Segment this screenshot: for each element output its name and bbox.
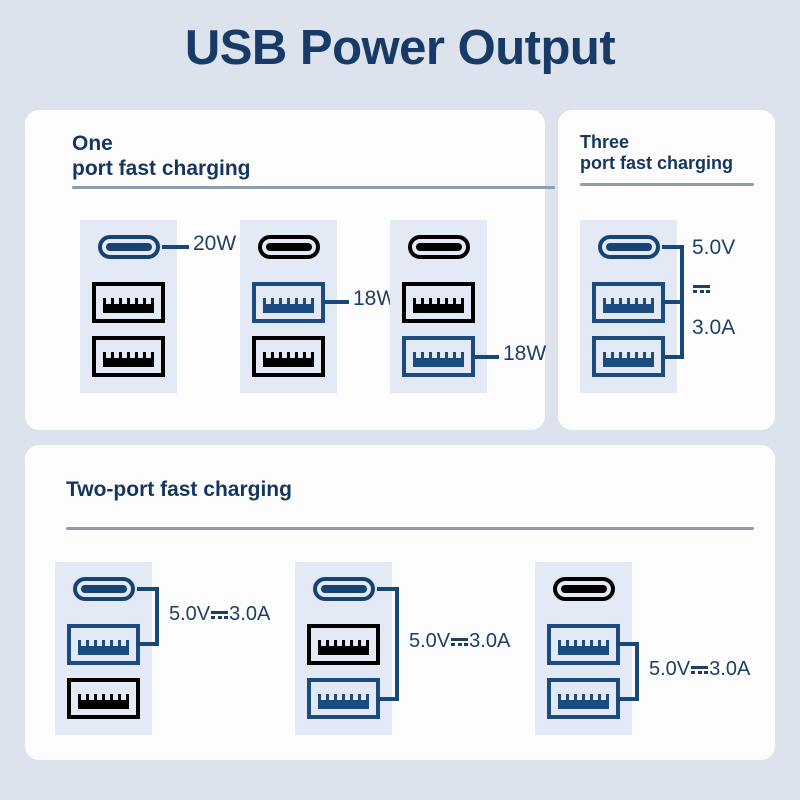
power-label-20w: 20W [193, 232, 236, 256]
card-two-port-fast-charging: Two-port fast charging 5.0V3.0A 5.0V3.0A [25, 445, 775, 760]
usb-a-core [558, 646, 609, 655]
current-label: 3.0A [709, 658, 750, 680]
usb-c-port-active[interactable] [98, 235, 160, 259]
usb-a-port-active[interactable] [252, 282, 325, 323]
usb-c-inner [416, 243, 462, 251]
usb-c-inner [81, 585, 127, 593]
usb-a-port-active[interactable] [402, 336, 475, 377]
usb-a-port-inactive[interactable] [67, 678, 140, 719]
usb-a-core [558, 700, 609, 709]
power-label-18w-bottom: 18W [503, 342, 546, 366]
voltage-label: 5.0V [692, 228, 735, 268]
card-one-port-fast-charging: One port fast charging 20W 18W [25, 110, 545, 430]
card-one-divider [72, 186, 555, 189]
usb-c-inner [561, 585, 607, 593]
current-label: 3.0A [229, 603, 270, 625]
usb-a-core [78, 646, 129, 655]
connector-line-one-b [322, 300, 349, 304]
card-three-header: Three port fast charging [580, 132, 733, 174]
port-panel-one-b [240, 220, 337, 393]
card-one-header: One port fast charging [72, 132, 251, 182]
card-two-divider [66, 527, 754, 530]
usb-a-port-inactive[interactable] [307, 624, 380, 665]
usb-a-port-active[interactable] [592, 336, 665, 377]
usb-a-core [603, 358, 654, 367]
dc-current-icon [691, 663, 708, 676]
usb-a-port-inactive[interactable] [92, 282, 165, 323]
dc-current-icon [451, 635, 468, 648]
usb-a-core [78, 700, 129, 709]
usb-c-port-inactive[interactable] [553, 577, 615, 601]
usb-a-core [318, 700, 369, 709]
usb-c-port-inactive[interactable] [258, 235, 320, 259]
port-panel-one-c [390, 220, 487, 393]
card-three-port-fast-charging: Three port fast charging 5.0V 3.0A [558, 110, 775, 430]
output-spec-two-port-b: 5.0V3.0A [409, 630, 510, 653]
current-label: 3.0A [692, 308, 735, 348]
connector-spine [155, 587, 159, 646]
usb-c-inner [606, 243, 652, 251]
usb-c-inner [106, 243, 152, 251]
usb-a-port-inactive[interactable] [252, 336, 325, 377]
card-two-header: Two-port fast charging [66, 478, 292, 503]
usb-c-inner [321, 585, 367, 593]
usb-a-core [103, 304, 154, 313]
usb-a-port-active[interactable] [592, 282, 665, 323]
card-three-divider [580, 183, 754, 186]
connector-spine [635, 642, 639, 701]
voltage-label: 5.0V [409, 630, 450, 652]
usb-a-port-active[interactable] [307, 678, 380, 719]
usb-a-port-active[interactable] [67, 624, 140, 665]
usb-a-core [263, 304, 314, 313]
page-title: USB Power Output [0, 22, 800, 76]
usb-c-port-inactive[interactable] [408, 235, 470, 259]
usb-c-port-active[interactable] [73, 577, 135, 601]
dc-symbol-row [692, 268, 735, 308]
usb-a-core [413, 304, 464, 313]
connector-line-one-c [472, 355, 499, 359]
output-spec-two-port-a: 5.0V3.0A [169, 603, 270, 626]
connector-line-one-a [162, 245, 189, 249]
output-spec-three-port: 5.0V 3.0A [692, 228, 735, 348]
usb-a-port-active[interactable] [547, 678, 620, 719]
usb-a-core [603, 304, 654, 313]
usb-a-port-inactive[interactable] [92, 336, 165, 377]
usb-c-port-active[interactable] [313, 577, 375, 601]
usb-a-port-active[interactable] [547, 624, 620, 665]
voltage-label: 5.0V [169, 603, 210, 625]
dc-current-icon [211, 608, 228, 621]
usb-a-core [263, 358, 314, 367]
current-label: 3.0A [469, 630, 510, 652]
output-spec-two-port-c: 5.0V3.0A [649, 658, 750, 681]
connector-spine [680, 245, 684, 359]
usb-c-port-active[interactable] [598, 235, 660, 259]
dc-current-icon [693, 282, 710, 295]
usb-a-port-inactive[interactable] [402, 282, 475, 323]
connector-spine [395, 587, 399, 701]
usb-c-inner [266, 243, 312, 251]
usb-a-core [103, 358, 154, 367]
usb-a-core [318, 646, 369, 655]
usb-a-core [413, 358, 464, 367]
port-panel-two-c [535, 562, 632, 735]
voltage-label: 5.0V [649, 658, 690, 680]
